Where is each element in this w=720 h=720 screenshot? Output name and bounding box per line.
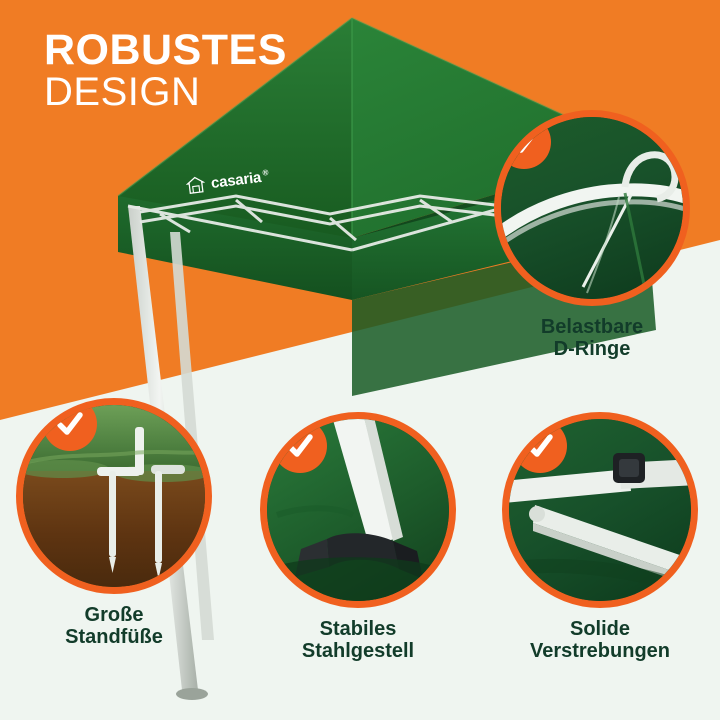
feature-standfuesse-caption-line-2: Standfüße: [14, 626, 214, 648]
feature-standfuesse-caption-line-1: Große: [14, 604, 214, 626]
feature-stahlgestell-caption: Stabiles Stahlgestell: [258, 618, 458, 663]
headline-line-1: ROBUSTES: [44, 30, 287, 71]
feature-d-ringe-check-badge: [497, 115, 551, 169]
feature-stahlgestell-check-badge: [273, 419, 327, 473]
feature-d-ringe: Belastbare D-Ringe: [494, 110, 690, 361]
feature-stahlgestell-caption-line-1: Stabiles: [258, 618, 458, 640]
feature-standfuesse-caption: Große Standfüße: [14, 604, 214, 649]
feature-d-ringe-caption-line-1: Belastbare: [494, 316, 690, 338]
feature-verstrebungen-caption: Solide Verstrebungen: [494, 618, 706, 663]
check-icon: [285, 431, 315, 461]
headline-line-2: DESIGN: [44, 73, 287, 111]
check-icon: [525, 431, 555, 461]
casaria-house-icon: [185, 175, 206, 196]
check-icon: [509, 127, 539, 157]
feature-verstrebungen-check-badge: [513, 419, 567, 473]
brand-registered-mark: ®: [262, 168, 269, 178]
feature-stahlgestell-photo: [260, 412, 456, 608]
feature-stahlgestell: Stabiles Stahlgestell: [258, 412, 458, 663]
feature-verstrebungen: Solide Verstrebungen: [494, 412, 706, 663]
feature-standfuesse-photo: [16, 398, 212, 594]
feature-d-ringe-photo: [494, 110, 690, 306]
feature-verstrebungen-caption-line-2: Verstrebungen: [494, 640, 706, 662]
feature-stahlgestell-caption-line-2: Stahlgestell: [258, 640, 458, 662]
feature-standfuesse: Große Standfüße: [14, 398, 214, 649]
feature-d-ringe-caption: Belastbare D-Ringe: [494, 316, 690, 361]
feature-standfuesse-check-badge: [43, 398, 97, 451]
feature-verstrebungen-caption-line-1: Solide: [494, 618, 706, 640]
product-feature-poster: casaria ® ROBUSTES DESIGN Bel: [0, 0, 720, 720]
feature-d-ringe-caption-line-2: D-Ringe: [494, 338, 690, 360]
check-icon: [55, 409, 85, 439]
headline: ROBUSTES DESIGN: [44, 30, 287, 112]
feature-verstrebungen-photo: [502, 412, 698, 608]
